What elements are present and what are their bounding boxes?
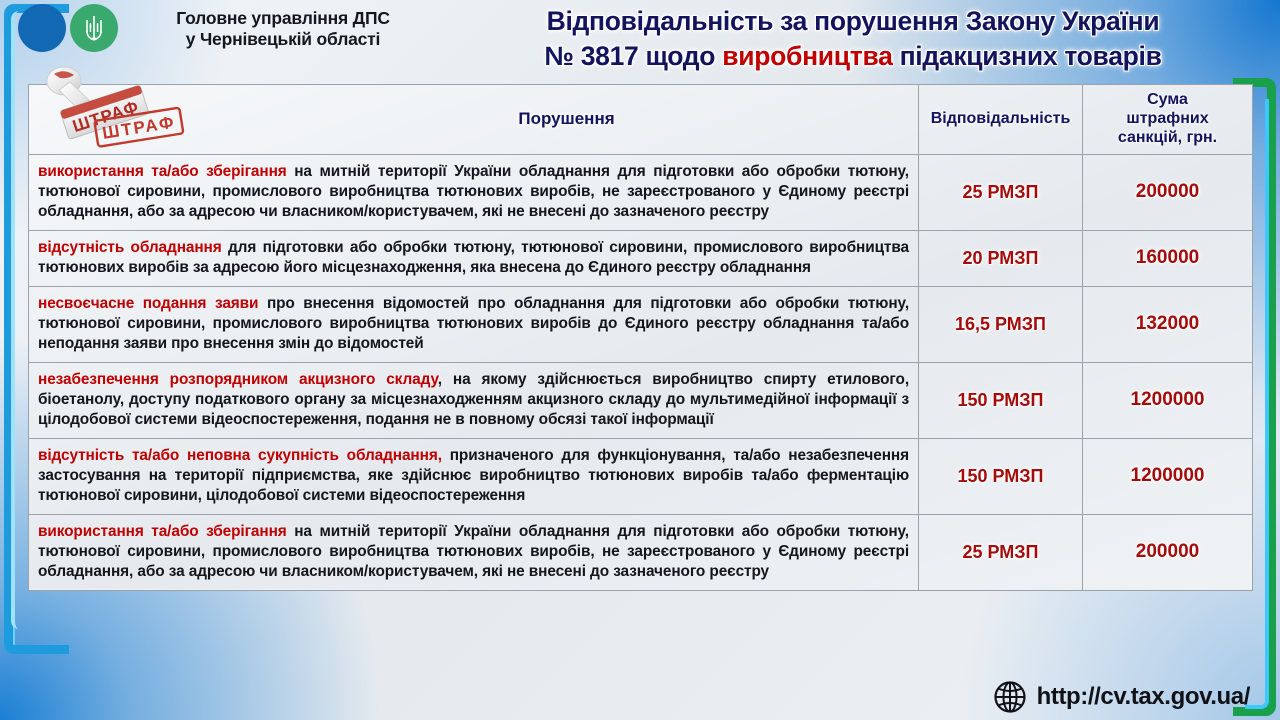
cell-responsibility: 25 РМЗП xyxy=(919,514,1083,590)
penalties-table: Порушення Відповідальність Сума штрафних… xyxy=(28,84,1253,591)
violation-lead: використання та/або зберігання xyxy=(38,523,287,540)
table-header-row: Порушення Відповідальність Сума штрафних… xyxy=(29,85,1253,155)
site-url[interactable]: http://cv.tax.gov.ua/ xyxy=(1037,683,1250,711)
cell-responsibility: 25 РМЗП xyxy=(919,154,1083,230)
page-title-highlight: виробництва xyxy=(722,41,892,71)
column-header-amount: Сума штрафних санкцій, грн. xyxy=(1083,85,1253,155)
ukraine-trident-icon xyxy=(70,4,118,52)
blue-circle-logo xyxy=(18,4,66,52)
slide-header: Головне управління ДПС у Чернівецькій об… xyxy=(0,0,1280,74)
table-body: використання та/або зберігання на митній… xyxy=(29,154,1253,590)
cell-violation: несвоєчасне подання заяви про внесення в… xyxy=(29,286,919,362)
violation-lead: незабезпечення розпорядником акцизного с… xyxy=(38,371,438,388)
cell-amount: 1200000 xyxy=(1083,438,1253,514)
table-row: незабезпечення розпорядником акцизного с… xyxy=(29,362,1253,438)
penalties-table-wrapper: Порушення Відповідальність Сума штрафних… xyxy=(28,84,1252,591)
cell-amount: 200000 xyxy=(1083,514,1253,590)
logo-group xyxy=(18,4,118,52)
cell-violation: відсутність та/або неповна сукупність об… xyxy=(29,438,919,514)
cell-amount: 132000 xyxy=(1083,286,1253,362)
page-title: Відповідальність за порушення Закону Укр… xyxy=(432,4,1274,74)
cell-violation: відсутність обладнання для підготовки аб… xyxy=(29,230,919,286)
table-row: використання та/або зберігання на митній… xyxy=(29,154,1253,230)
cell-amount: 160000 xyxy=(1083,230,1253,286)
violation-lead: відсутність та/або неповна сукупність об… xyxy=(38,447,442,464)
violation-lead: відсутність обладнання xyxy=(38,239,222,256)
cell-violation: використання та/або зберігання на митній… xyxy=(29,154,919,230)
cell-violation: незабезпечення розпорядником акцизного с… xyxy=(29,362,919,438)
violation-lead: використання та/або зберігання xyxy=(38,163,287,180)
column-header-amount-line3: санкцій, грн. xyxy=(1087,129,1248,148)
table-row: використання та/або зберігання на митній… xyxy=(29,514,1253,590)
cell-responsibility: 16,5 РМЗП xyxy=(919,286,1083,362)
cell-amount: 1200000 xyxy=(1083,362,1253,438)
table-row: відсутність обладнання для підготовки аб… xyxy=(29,230,1253,286)
globe-icon xyxy=(993,680,1027,714)
cell-responsibility: 150 РМЗП xyxy=(919,438,1083,514)
violation-lead: несвоєчасне подання заяви xyxy=(38,295,258,312)
organization-title-line2: у Чернівецькій області xyxy=(128,29,438,50)
cell-responsibility: 150 РМЗП xyxy=(919,362,1083,438)
cell-responsibility: 20 РМЗП xyxy=(919,230,1083,286)
page-title-line1: Відповідальність за порушення Закону Укр… xyxy=(432,4,1274,39)
page-title-line2: № 3817 щодо виробництва підакцизних това… xyxy=(432,39,1274,74)
cell-violation: використання та/або зберігання на митній… xyxy=(29,514,919,590)
column-header-responsibility: Відповідальність xyxy=(919,85,1083,155)
page-title-line2-pre: № 3817 щодо xyxy=(544,41,722,71)
table-row: несвоєчасне подання заяви про внесення в… xyxy=(29,286,1253,362)
column-header-amount-line2: штрафних xyxy=(1087,110,1248,129)
page-title-line2-post: підакцизних товарів xyxy=(893,41,1162,71)
footer: http://cv.tax.gov.ua/ xyxy=(993,680,1250,714)
table-row: відсутність та/або неповна сукупність об… xyxy=(29,438,1253,514)
organization-title: Головне управління ДПС у Чернівецькій об… xyxy=(128,8,438,51)
column-header-violation: Порушення xyxy=(29,85,919,155)
column-header-amount-line1: Сума xyxy=(1087,91,1248,110)
organization-title-line1: Головне управління ДПС xyxy=(128,8,438,29)
cell-amount: 200000 xyxy=(1083,154,1253,230)
table-header: Порушення Відповідальність Сума штрафних… xyxy=(29,85,1253,155)
